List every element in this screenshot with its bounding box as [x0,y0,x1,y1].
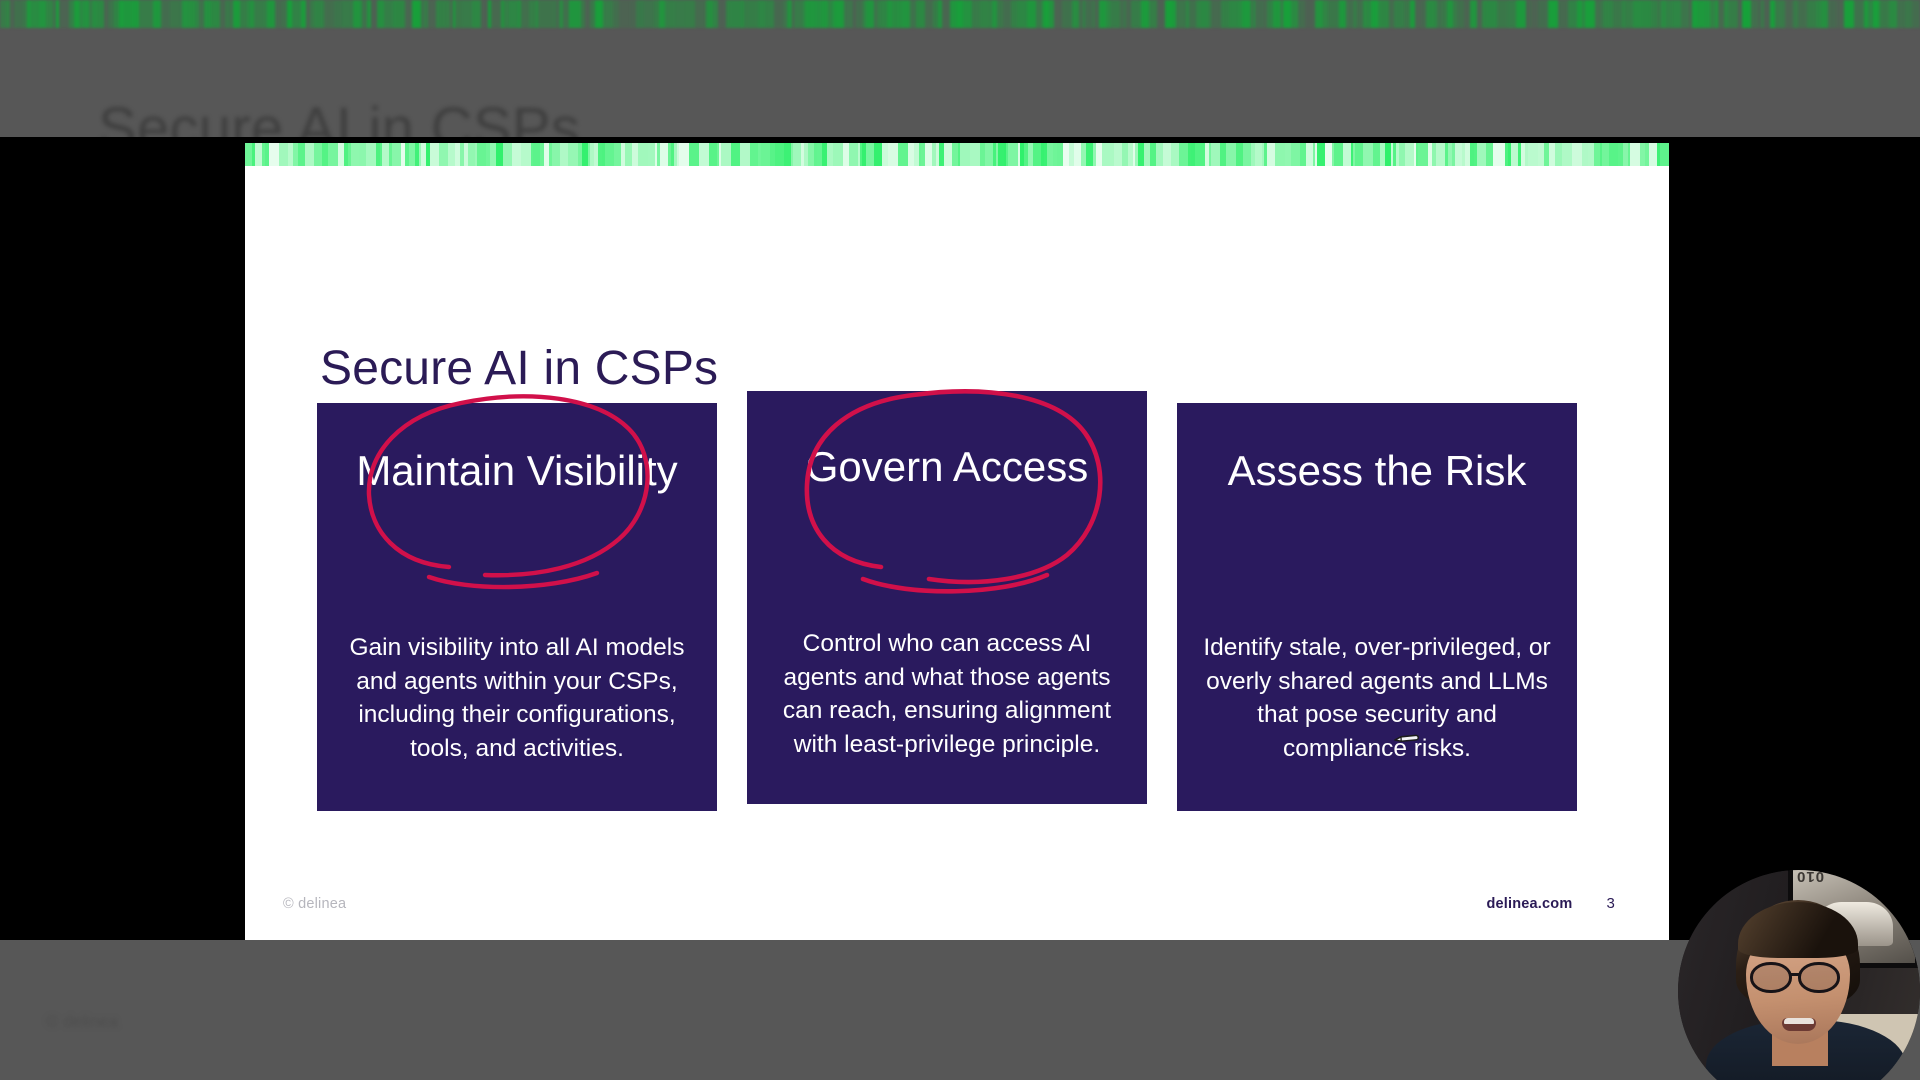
webcam-person-glasses-right [1798,962,1840,993]
card-govern-access[interactable]: Govern Access Control who can access AI … [747,391,1147,804]
card-heading: Govern Access [747,443,1147,490]
card-body: Identify stale, over-privileged, or over… [1177,631,1577,765]
footer-page-number: 3 [1606,895,1615,912]
page-title: Secure AI in CSPs [320,341,718,396]
webcam-picture-caption: 010 [1796,870,1824,885]
footer-right-group: delinea.com 3 [1486,895,1615,912]
card-heading: Maintain Visibility [317,447,717,494]
footer-copyright: © delinea [283,896,346,912]
footer-website: delinea.com [1486,896,1572,912]
card-body: Control who can access AI agents and wha… [747,627,1147,761]
card-body: Gain visibility into all AI models and a… [317,631,717,765]
card-assess-the-risk[interactable]: Assess the Risk Identify stale, over-pri… [1177,403,1577,811]
slide-stripe-band [245,143,1669,166]
webcam-person-glasses-bridge [1791,973,1800,976]
card-maintain-visibility[interactable]: Maintain Visibility Gain visibility into… [317,403,717,811]
background-ghost-footer: © delinea [46,1012,118,1032]
webcam-person-teeth [1784,1018,1814,1024]
card-heading: Assess the Risk [1177,447,1577,494]
webcam-overlay[interactable]: 010 [1678,870,1920,1080]
presentation-stage: Secure AI in CSPs © delinea Secure AI in… [0,0,1920,1080]
webcam-person-glasses-left [1750,962,1792,993]
slide-canvas[interactable]: Secure AI in CSPs Maintain Visibility Ga… [245,143,1669,940]
background-stripe-band [0,0,1920,28]
